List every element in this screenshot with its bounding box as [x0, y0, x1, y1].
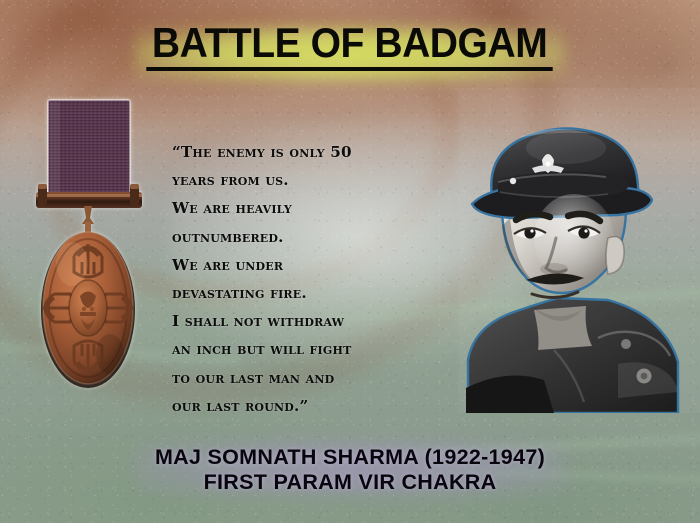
poster-canvas: BATTLE OF BADGAM [0, 0, 700, 523]
title-block: BATTLE OF BADGAM [0, 22, 700, 71]
page-title: BATTLE OF BADGAM [147, 22, 554, 71]
caption-name-dates: MAJ SOMNATH SHARMA (1922-1947) [0, 445, 700, 470]
quote-line: our last round.” [172, 392, 472, 420]
quote-block: “The enemy is only 50 years from us. We … [172, 138, 472, 420]
portrait-illustration [458, 88, 700, 413]
major-somnath-sharma-portrait [458, 88, 700, 413]
medal-ribbon [48, 100, 130, 194]
medal-illustration [22, 96, 154, 408]
caption-block: MAJ SOMNATH SHARMA (1922-1947) FIRST PAR… [0, 445, 700, 495]
quote-line: devastating fire. [172, 279, 472, 307]
quote-line: We are under [172, 251, 472, 279]
quote-line: I shall not withdraw [172, 307, 472, 335]
quote-line: to our last man and [172, 364, 472, 392]
medal-claw [82, 206, 94, 224]
quote-line: We are heavily [172, 194, 472, 222]
quote-line: outnumbered. [172, 223, 472, 251]
medal-medallion [41, 232, 135, 388]
param-vir-chakra-medal [22, 96, 154, 408]
medal-state-emblem [69, 280, 107, 336]
quote-line: an inch but will fight [172, 335, 472, 363]
quote-line: years from us. [172, 166, 472, 194]
caption-award: FIRST PARAM VIR CHAKRA [0, 470, 700, 495]
quote-line: “The enemy is only 50 [172, 138, 472, 166]
